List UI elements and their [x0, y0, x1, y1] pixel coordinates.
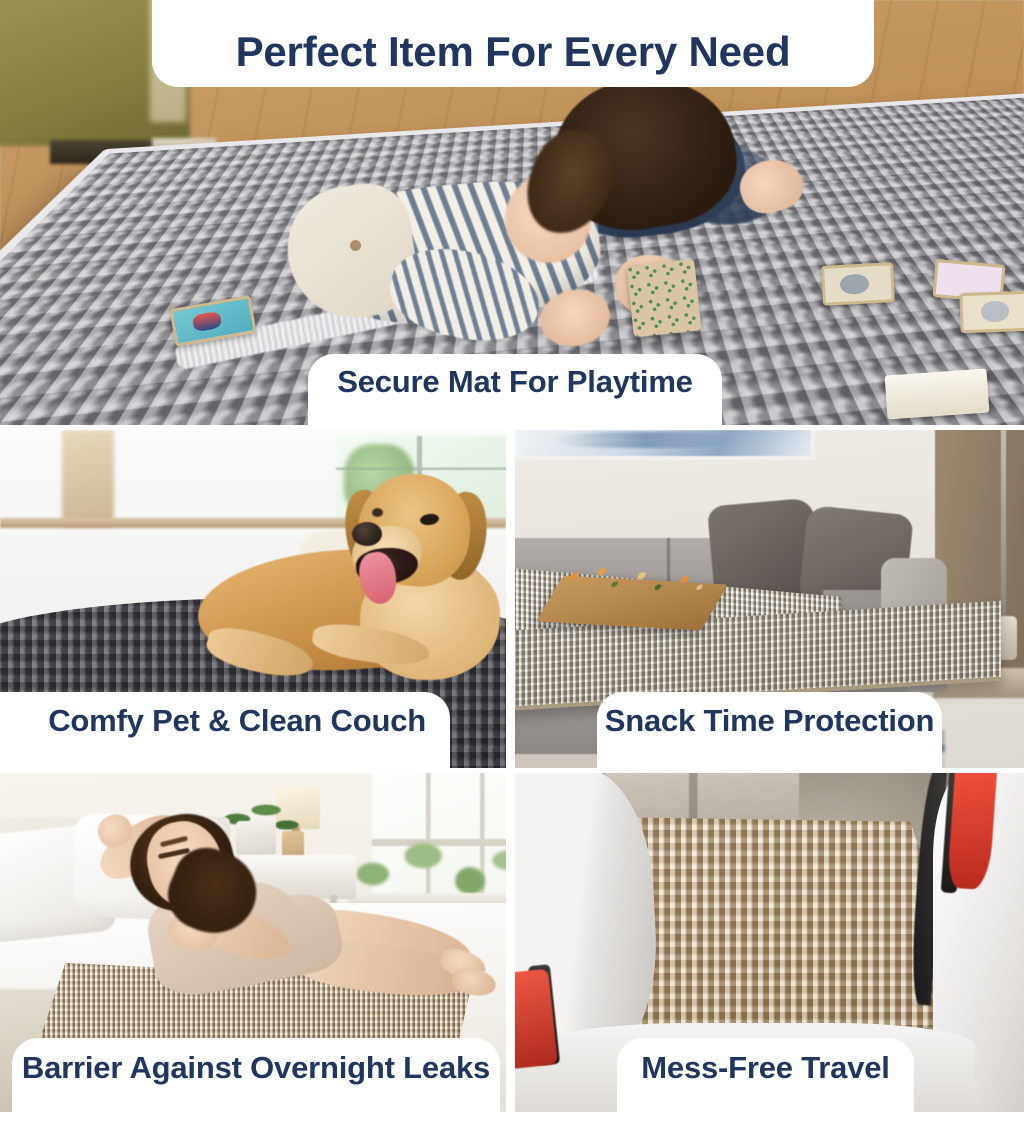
caption-pill-playtime: Secure Mat For Playtime [308, 354, 722, 425]
caption-playtime: Secure Mat For Playtime [337, 364, 692, 400]
page-title-pill: Perfect Item For Every Need [152, 0, 874, 87]
floor-lamp-pole [1001, 430, 1006, 616]
infographic-board: Perfect Item For Every Need Secure Mat F… [0, 0, 1024, 1112]
flashcard-white [885, 368, 990, 419]
dog-eye-left [372, 508, 383, 517]
caption-pill-pet: Comfy Pet & Clean Couch [0, 692, 450, 768]
wall-column [62, 430, 114, 526]
artwork-detail [555, 432, 735, 448]
caption-snack: Snack Time Protection [605, 703, 934, 739]
caption-travel: Mess-Free Travel [641, 1050, 889, 1086]
caption-pill-travel: Mess-Free Travel [617, 1038, 914, 1122]
cardigan-button [350, 240, 361, 251]
caption-pet: Comfy Pet & Clean Couch [48, 703, 426, 739]
dog-nose [352, 522, 382, 546]
flashcard-gray [821, 262, 895, 306]
page-title: Perfect Item For Every Need [236, 28, 791, 76]
caption-leaks: Barrier Against Overnight Leaks [22, 1050, 490, 1086]
caption-pill-snack: Snack Time Protection [597, 692, 942, 768]
plant-pot [236, 821, 276, 855]
appetizers [547, 561, 723, 603]
flashcard-cream [959, 291, 1024, 333]
flashcard-held [626, 259, 701, 338]
caption-pill-leaks: Barrier Against Overnight Leaks [12, 1038, 500, 1122]
